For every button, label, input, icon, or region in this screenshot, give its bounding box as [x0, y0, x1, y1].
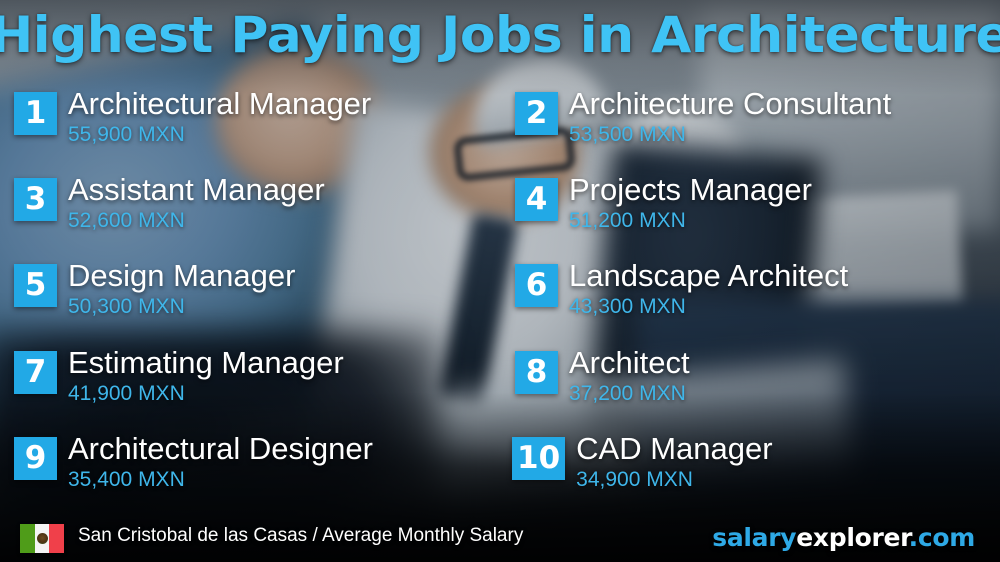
- job-salary-3: 52,600 MXN: [68, 208, 325, 233]
- job-row-10: 10 CAD Manager 34,900 MXN: [512, 437, 773, 492]
- job-salary-1: 55,900 MXN: [68, 122, 371, 147]
- infographic-root: Highest Paying Jobs in Architecture 1 Ar…: [0, 0, 1000, 562]
- rank-badge-3: 3: [14, 178, 57, 221]
- salaryexplorer-logo[interactable]: salaryexplorer.com: [712, 523, 975, 552]
- job-salary-7: 41,900 MXN: [68, 381, 344, 406]
- mexico-flag-icon: [20, 524, 64, 553]
- footer: San Cristobal de las Casas / Average Mon…: [0, 510, 1000, 562]
- job-salary-5: 50,300 MXN: [68, 294, 295, 319]
- rank-badge-2: 2: [515, 92, 558, 135]
- job-title-5: Design Manager: [68, 257, 295, 294]
- rank-badge-10: 10: [512, 437, 565, 480]
- job-row-2: 2 Architecture Consultant 53,500 MXN: [515, 92, 891, 147]
- job-salary-4: 51,200 MXN: [569, 208, 812, 233]
- rank-badge-4: 4: [515, 178, 558, 221]
- job-row-3: 3 Assistant Manager 52,600 MXN: [14, 178, 325, 233]
- job-salary-2: 53,500 MXN: [569, 122, 891, 147]
- job-title-6: Landscape Architect: [569, 257, 848, 294]
- job-text-10: CAD Manager 34,900 MXN: [576, 430, 772, 492]
- rank-badge-1: 1: [14, 92, 57, 135]
- logo-part-domain: .com: [909, 523, 975, 552]
- flag-band-green: [20, 524, 35, 553]
- job-title-1: Architectural Manager: [68, 85, 371, 122]
- job-text-5: Design Manager 50,300 MXN: [68, 257, 295, 319]
- flag-band-red: [49, 524, 64, 553]
- job-title-10: CAD Manager: [576, 430, 772, 467]
- job-title-8: Architect: [569, 344, 690, 381]
- logo-part-salary: salary: [712, 523, 796, 552]
- job-row-6: 6 Landscape Architect 43,300 MXN: [515, 264, 848, 319]
- job-title-7: Estimating Manager: [68, 344, 344, 381]
- job-text-6: Landscape Architect 43,300 MXN: [569, 257, 848, 319]
- job-row-4: 4 Projects Manager 51,200 MXN: [515, 178, 812, 233]
- rank-badge-5: 5: [14, 264, 57, 307]
- job-row-8: 8 Architect 37,200 MXN: [515, 351, 690, 406]
- job-title-2: Architecture Consultant: [569, 85, 891, 122]
- job-row-9: 9 Architectural Designer 35,400 MXN: [14, 437, 373, 492]
- job-text-3: Assistant Manager 52,600 MXN: [68, 171, 325, 233]
- rank-badge-6: 6: [515, 264, 558, 307]
- job-salary-9: 35,400 MXN: [68, 467, 373, 492]
- job-text-1: Architectural Manager 55,900 MXN: [68, 85, 371, 147]
- job-row-1: 1 Architectural Manager 55,900 MXN: [14, 92, 371, 147]
- job-salary-10: 34,900 MXN: [576, 467, 772, 492]
- rank-badge-8: 8: [515, 351, 558, 394]
- rank-badge-7: 7: [14, 351, 57, 394]
- job-row-7: 7 Estimating Manager 41,900 MXN: [14, 351, 344, 406]
- job-text-9: Architectural Designer 35,400 MXN: [68, 430, 373, 492]
- job-title-9: Architectural Designer: [68, 430, 373, 467]
- job-text-2: Architecture Consultant 53,500 MXN: [569, 85, 891, 147]
- job-title-3: Assistant Manager: [68, 171, 325, 208]
- job-row-5: 5 Design Manager 50,300 MXN: [14, 264, 295, 319]
- job-salary-6: 43,300 MXN: [569, 294, 848, 319]
- flag-band-white: [35, 524, 50, 553]
- flag-eagle-emblem-icon: [37, 533, 48, 544]
- job-text-7: Estimating Manager 41,900 MXN: [68, 344, 344, 406]
- rank-badge-9: 9: [14, 437, 57, 480]
- job-salary-8: 37,200 MXN: [569, 381, 690, 406]
- job-title-4: Projects Manager: [569, 171, 812, 208]
- footer-caption: San Cristobal de las Casas / Average Mon…: [78, 525, 523, 547]
- job-text-8: Architect 37,200 MXN: [569, 344, 690, 406]
- job-list: 1 Architectural Manager 55,900 MXN 2 Arc…: [0, 0, 1000, 562]
- logo-part-explorer: explorer: [796, 523, 908, 552]
- job-text-4: Projects Manager 51,200 MXN: [569, 171, 812, 233]
